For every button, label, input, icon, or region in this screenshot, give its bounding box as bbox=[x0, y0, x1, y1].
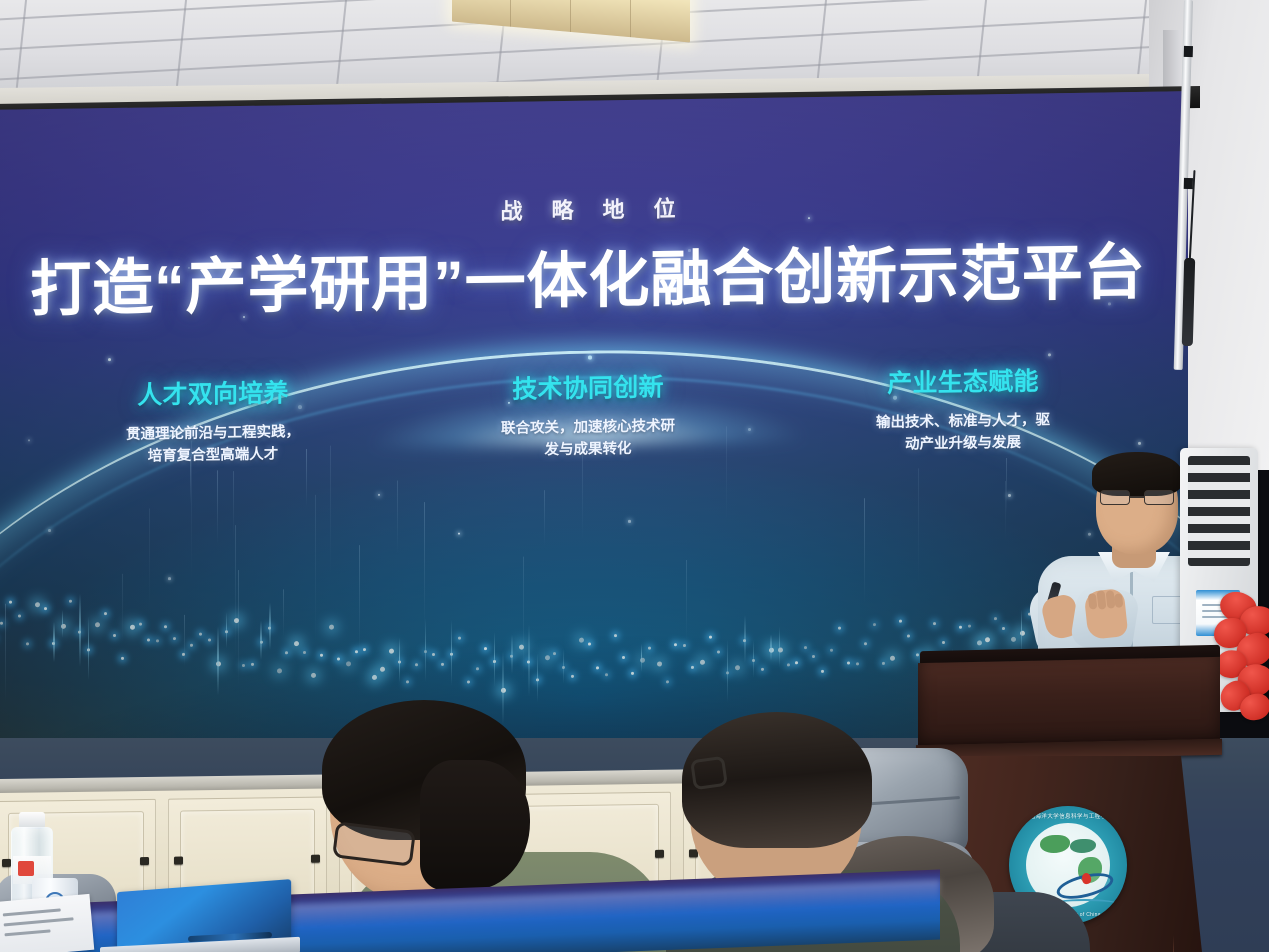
network-node bbox=[856, 662, 859, 665]
star-speck bbox=[1048, 353, 1051, 356]
slide-title: 打造“产学研用”一体化融合创新示范平台 bbox=[0, 221, 1188, 329]
finger bbox=[1114, 593, 1123, 608]
network-node bbox=[717, 650, 720, 653]
network-node bbox=[346, 661, 351, 666]
network-node bbox=[311, 673, 316, 678]
node-light-beam bbox=[217, 626, 219, 695]
light-streak bbox=[217, 470, 218, 544]
network-node bbox=[631, 672, 634, 675]
network-node bbox=[87, 648, 90, 651]
network-node bbox=[380, 667, 385, 672]
node-light-beam bbox=[260, 621, 262, 660]
network-node bbox=[985, 637, 990, 642]
star-speck bbox=[28, 439, 30, 441]
network-node bbox=[208, 639, 211, 642]
column-heading: 人才双向培养 bbox=[48, 372, 378, 413]
network-node bbox=[337, 658, 340, 661]
light-streak bbox=[397, 481, 398, 555]
network-node bbox=[648, 647, 651, 650]
light-streak bbox=[233, 472, 234, 540]
network-node bbox=[640, 658, 645, 663]
network-node bbox=[242, 664, 245, 667]
network-node bbox=[614, 634, 617, 637]
node-light-beam bbox=[226, 612, 228, 649]
light-streak bbox=[238, 570, 239, 686]
node-light-beam bbox=[511, 635, 513, 674]
network-node bbox=[476, 667, 479, 670]
cabinet-knob[interactable] bbox=[174, 857, 183, 865]
light-streak bbox=[1005, 481, 1006, 541]
light-streak bbox=[149, 508, 150, 613]
light-streak bbox=[686, 560, 687, 641]
network-node bbox=[0, 622, 3, 625]
ac-vent-slats bbox=[1188, 456, 1250, 566]
network-node bbox=[787, 663, 790, 666]
network-node bbox=[994, 617, 997, 620]
network-node bbox=[61, 624, 66, 629]
network-node bbox=[52, 642, 55, 645]
network-node bbox=[415, 663, 418, 666]
network-node bbox=[18, 614, 21, 617]
network-node bbox=[666, 680, 669, 683]
node-light-beam bbox=[399, 638, 401, 683]
network-node bbox=[873, 623, 876, 626]
network-node bbox=[769, 648, 774, 653]
network-node bbox=[1011, 637, 1016, 642]
node-light-beam bbox=[425, 618, 427, 682]
network-node bbox=[735, 665, 740, 670]
emblem-top-text: 中国海洋大学信息科学与工程学部 bbox=[1009, 812, 1127, 820]
network-node bbox=[398, 660, 401, 663]
network-node bbox=[536, 678, 539, 681]
network-node bbox=[622, 656, 625, 659]
light-streak bbox=[184, 615, 185, 668]
star-speck bbox=[628, 520, 631, 523]
star-speck bbox=[458, 533, 460, 535]
column-heading: 技术协同创新 bbox=[423, 366, 753, 407]
star-speck bbox=[168, 577, 171, 580]
network-node bbox=[691, 666, 694, 669]
network-node bbox=[113, 634, 116, 637]
network-node bbox=[683, 644, 686, 647]
network-node bbox=[467, 681, 470, 684]
slide-column-talent: 人才双向培养 贯通理论前沿与工程实践， 培育复合型高端人才 bbox=[48, 372, 378, 470]
network-node bbox=[726, 671, 729, 674]
network-node bbox=[864, 642, 867, 645]
network-node bbox=[510, 654, 513, 657]
network-node bbox=[320, 654, 323, 657]
network-node bbox=[389, 648, 394, 653]
star-speck bbox=[378, 494, 380, 496]
light-streak bbox=[1006, 458, 1007, 515]
node-light-beam bbox=[770, 635, 772, 661]
network-node bbox=[761, 667, 764, 670]
network-node bbox=[501, 688, 506, 693]
node-light-beam bbox=[537, 654, 539, 702]
network-node bbox=[700, 660, 705, 665]
node-light-beam bbox=[53, 622, 55, 662]
slide-column-technology: 技术协同创新 联合攻关，加速核心技术研 发与成果转化 bbox=[423, 366, 753, 464]
ceiling-grid-line bbox=[327, 0, 355, 96]
network-node bbox=[139, 622, 142, 625]
star-speck bbox=[48, 529, 51, 532]
network-node bbox=[450, 653, 453, 656]
star-speck bbox=[1138, 442, 1141, 445]
network-node bbox=[225, 630, 228, 633]
node-light-beam bbox=[79, 594, 81, 667]
network-node bbox=[752, 659, 755, 662]
network-node bbox=[130, 625, 135, 630]
network-node bbox=[1002, 627, 1005, 630]
light-streak bbox=[235, 525, 236, 660]
node-light-beam bbox=[727, 640, 729, 703]
node-light-beam bbox=[1021, 610, 1023, 653]
light-streak bbox=[864, 498, 865, 604]
network-node bbox=[294, 641, 299, 646]
light-streak bbox=[918, 468, 919, 583]
light-streak bbox=[359, 545, 360, 656]
network-node bbox=[147, 639, 150, 642]
red-ribbon-flower bbox=[1214, 592, 1269, 722]
network-node bbox=[424, 650, 427, 653]
star-speck bbox=[588, 356, 592, 360]
network-node bbox=[78, 630, 81, 633]
light-streak bbox=[315, 494, 316, 648]
network-node bbox=[268, 626, 271, 629]
column-body: 贯通理论前沿与工程实践， 培育复合型高端人才 bbox=[48, 421, 378, 470]
light-streak bbox=[523, 556, 524, 681]
network-node bbox=[907, 634, 910, 637]
earth-network-nodes bbox=[0, 339, 1188, 363]
node-light-beam bbox=[641, 644, 643, 672]
network-node bbox=[942, 641, 945, 644]
network-node bbox=[104, 612, 107, 615]
network-node bbox=[44, 607, 47, 610]
slide-columns: 人才双向培养 贯通理论前沿与工程实践， 培育复合型高端人才 技术协同创新 联合攻… bbox=[48, 360, 1128, 469]
network-node bbox=[830, 648, 833, 651]
network-node bbox=[588, 643, 591, 646]
attendee-center-glasses bbox=[690, 756, 728, 790]
star-speck bbox=[1008, 494, 1011, 497]
network-node bbox=[95, 623, 100, 628]
network-node bbox=[596, 666, 599, 669]
network-node bbox=[812, 655, 815, 658]
light-streak bbox=[424, 502, 425, 630]
light-streak bbox=[5, 604, 6, 703]
network-node bbox=[657, 661, 662, 666]
node-light-beam bbox=[502, 651, 504, 725]
network-node bbox=[441, 663, 444, 666]
node-light-beam bbox=[779, 627, 781, 667]
network-node bbox=[260, 640, 263, 643]
network-node bbox=[285, 651, 288, 654]
cabinet-knob[interactable] bbox=[655, 850, 664, 858]
finger bbox=[1088, 593, 1098, 610]
document-papers bbox=[0, 894, 94, 952]
network-node bbox=[35, 602, 40, 607]
network-node bbox=[69, 599, 72, 602]
network-node bbox=[182, 653, 185, 656]
network-node bbox=[26, 642, 29, 645]
light-streak bbox=[582, 449, 583, 540]
node-light-beam bbox=[744, 615, 746, 663]
network-node bbox=[372, 675, 377, 680]
network-node bbox=[458, 636, 461, 639]
network-node bbox=[778, 647, 783, 652]
cabinet-knob[interactable] bbox=[140, 857, 149, 865]
node-light-beam bbox=[88, 617, 90, 681]
cabinet-knob[interactable] bbox=[311, 855, 320, 863]
network-node bbox=[821, 670, 824, 673]
network-node bbox=[804, 646, 807, 649]
network-node bbox=[562, 666, 565, 669]
network-node bbox=[164, 625, 167, 628]
network-node bbox=[199, 633, 202, 636]
network-node bbox=[933, 622, 936, 625]
laptop bbox=[100, 886, 300, 952]
network-node bbox=[156, 639, 159, 642]
network-node bbox=[406, 680, 409, 683]
network-node bbox=[899, 620, 902, 623]
network-node bbox=[916, 653, 919, 656]
network-node bbox=[579, 638, 584, 643]
network-node bbox=[605, 673, 608, 676]
network-node bbox=[432, 653, 435, 656]
network-node bbox=[493, 660, 496, 663]
light-streak bbox=[283, 589, 284, 637]
network-node bbox=[121, 657, 124, 660]
network-node bbox=[571, 675, 574, 678]
network-node bbox=[553, 652, 556, 655]
emblem-landmass bbox=[1040, 835, 1070, 853]
column-body-line: 发与成果转化 bbox=[423, 437, 753, 464]
network-node bbox=[363, 648, 366, 651]
network-node bbox=[484, 647, 487, 650]
node-light-beam bbox=[528, 625, 530, 697]
emblem-landmass bbox=[1070, 839, 1096, 853]
network-node bbox=[234, 618, 239, 623]
network-node bbox=[303, 651, 306, 654]
network-node bbox=[847, 661, 850, 664]
presentation-photo-scene: 战 略 地 位 打造“产学研用”一体化融合创新示范平台 人才双向培养 贯通理论前… bbox=[0, 0, 1269, 952]
node-light-beam bbox=[269, 603, 271, 650]
ceiling-grid-line bbox=[167, 0, 195, 96]
column-body-line: 培育复合型高端人才 bbox=[48, 443, 378, 470]
network-node bbox=[355, 650, 358, 653]
node-light-beam bbox=[563, 649, 565, 684]
network-node bbox=[709, 636, 712, 639]
star-speck bbox=[1088, 533, 1091, 536]
node-light-beam bbox=[494, 632, 496, 686]
network-node bbox=[977, 640, 982, 645]
network-node bbox=[795, 661, 798, 664]
network-node bbox=[1020, 631, 1025, 636]
node-light-beam bbox=[753, 640, 755, 678]
network-node bbox=[190, 644, 193, 647]
speaker-left-hand bbox=[1084, 588, 1129, 640]
network-node bbox=[674, 643, 677, 646]
network-node bbox=[743, 639, 746, 642]
slide-column-industry: 产业生态赋能 输出技术、标准与人才，驱 动产业升级与发展 bbox=[798, 360, 1128, 458]
node-light-beam bbox=[62, 610, 64, 638]
node-light-beam bbox=[451, 620, 453, 685]
light-streak bbox=[544, 490, 545, 546]
network-node bbox=[890, 655, 895, 660]
column-body-line: 动产业升级与发展 bbox=[798, 431, 1128, 458]
column-body: 联合攻关，加速核心技术研 发与成果转化 bbox=[423, 415, 753, 464]
network-node bbox=[545, 655, 550, 660]
network-node bbox=[527, 661, 530, 664]
network-node bbox=[277, 669, 282, 674]
network-node bbox=[216, 661, 221, 666]
network-node bbox=[173, 637, 176, 640]
network-node bbox=[329, 624, 334, 629]
network-node bbox=[251, 663, 254, 666]
network-node bbox=[519, 645, 524, 650]
column-body: 输出技术、标准与人才，驱 动产业升级与发展 bbox=[798, 409, 1128, 458]
network-node bbox=[882, 662, 885, 665]
pole-band bbox=[1184, 46, 1193, 57]
podium-front-panel bbox=[918, 657, 1220, 751]
speaker-glasses bbox=[1100, 490, 1174, 505]
network-node bbox=[9, 600, 12, 603]
network-node bbox=[959, 626, 962, 629]
column-heading: 产业生态赋能 bbox=[798, 360, 1128, 401]
network-node bbox=[968, 624, 971, 627]
light-streak bbox=[122, 574, 123, 642]
star-speck bbox=[108, 358, 111, 361]
network-node bbox=[838, 627, 841, 630]
